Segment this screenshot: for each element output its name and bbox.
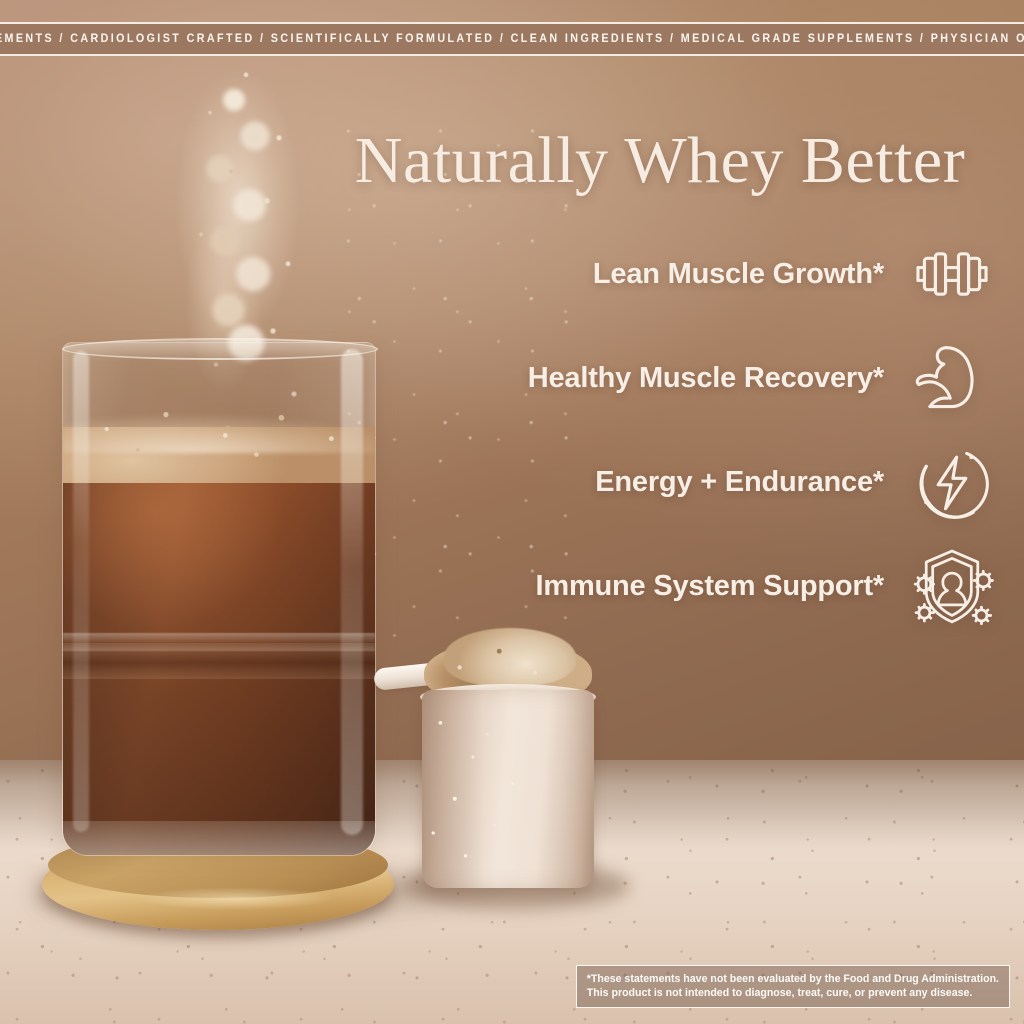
fda-disclaimer: *These statements have not been evaluate… [576, 965, 1010, 1008]
glass-left-highlight [73, 351, 89, 832]
powder-on-foam [63, 397, 375, 477]
benefit-row-lean-muscle-growth: Lean Muscle Growth* [378, 222, 998, 326]
glass-right-highlight [341, 349, 363, 835]
wooden-coaster-highlight [120, 888, 350, 914]
flexed-bicep-icon [906, 332, 998, 424]
benefit-label: Energy + Endurance* [595, 466, 884, 499]
page-title: Naturally Whey Better [330, 128, 990, 194]
benefits-list: Lean Muscle Growth* Healthy Muscle Recov… [378, 222, 998, 638]
drinking-glass [62, 342, 376, 856]
glass-base-thickness [63, 821, 375, 855]
falling-powder-specks [408, 700, 588, 890]
benefit-label: Immune System Support* [536, 570, 885, 603]
benefit-label: Lean Muscle Growth* [593, 258, 884, 291]
dumbbell-icon [906, 228, 998, 320]
glass-seam-line [63, 633, 375, 651]
benefit-row-healthy-muscle-recovery: Healthy Muscle Recovery* [378, 326, 998, 430]
immune-shield-icon [906, 540, 998, 632]
promotional-image: LEMENTS / CARDIOLOGIST CRAFTED / SCIENTI… [0, 0, 1024, 1024]
disclaimer-line-2: This product is not intended to diagnose… [587, 986, 999, 1000]
lightning-bolt-circle-icon [906, 436, 998, 528]
disclaimer-line-1: *These statements have not been evaluate… [587, 972, 999, 986]
claims-marquee-banner: LEMENTS / CARDIOLOGIST CRAFTED / SCIENTI… [0, 22, 1024, 56]
benefit-row-energy-endurance: Energy + Endurance* [378, 430, 998, 534]
claims-marquee-text: LEMENTS / CARDIOLOGIST CRAFTED / SCIENTI… [0, 33, 1024, 45]
benefit-label: Healthy Muscle Recovery* [528, 362, 884, 395]
benefit-row-immune-system-support: Immune System Support* [378, 534, 998, 638]
glass-rim [62, 338, 378, 360]
